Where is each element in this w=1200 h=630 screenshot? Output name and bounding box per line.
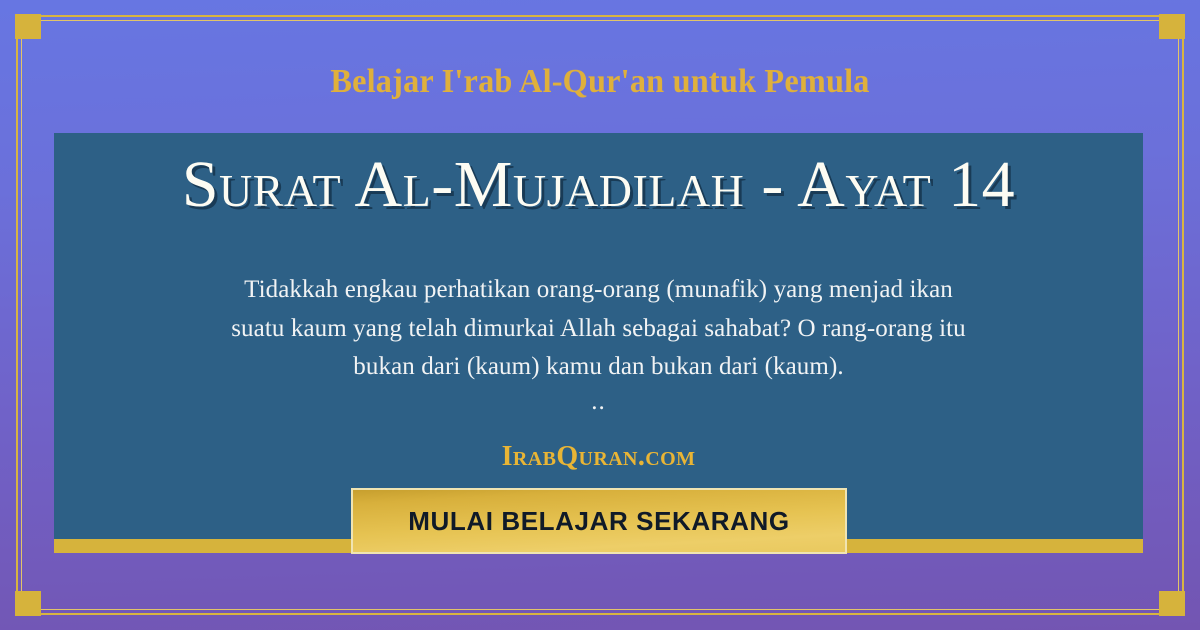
ayat-translation-text: Tidakkah engkau perhatikan orang-orang (…	[229, 271, 969, 387]
corner-square-bottom-left-icon	[15, 591, 41, 616]
start-learning-button[interactable]: MULAI BELAJAR SEKARANG	[351, 488, 847, 554]
promo-poster: Belajar I'rab Al-Qur'an untuk Pemula Sur…	[0, 0, 1200, 630]
corner-square-top-right-icon	[1159, 14, 1185, 39]
start-learning-button-label: MULAI BELAJAR SEKARANG	[408, 506, 790, 537]
content-panel: Surat Al-Mujadilah - Ayat 14 Tidakkah en…	[54, 133, 1143, 539]
corner-square-top-left-icon	[15, 14, 41, 39]
page-title: Surat Al-Mujadilah - Ayat 14	[54, 150, 1143, 219]
poster-tagline: Belajar I'rab Al-Qur'an untuk Pemula	[30, 63, 1170, 101]
ayat-ellipsis: ..	[54, 388, 1143, 416]
corner-square-bottom-right-icon	[1159, 591, 1185, 616]
brand-name: IrabQuran.com	[54, 441, 1143, 473]
